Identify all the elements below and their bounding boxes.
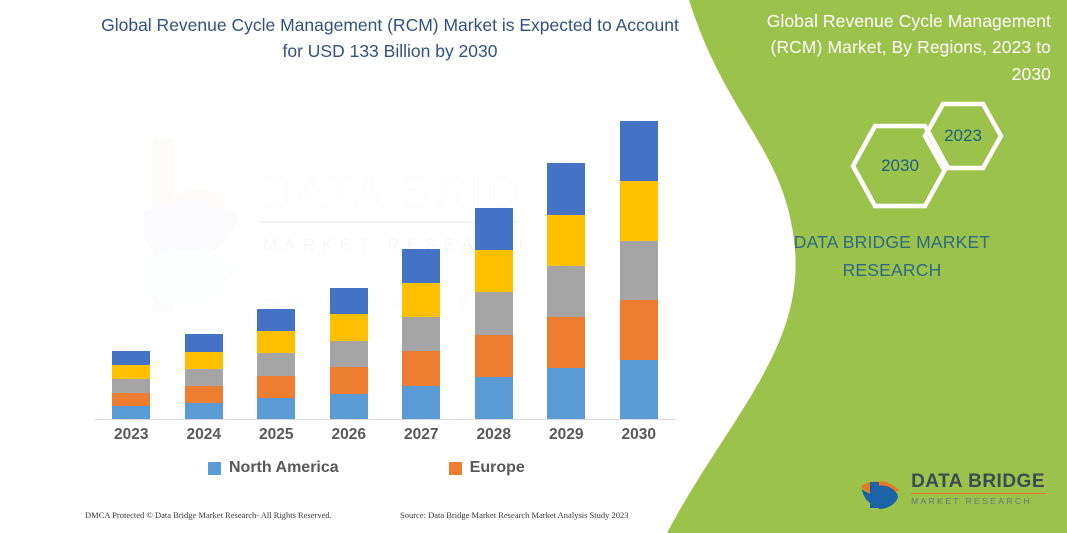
bar-segment-2024-series-4[interactable] [185, 352, 223, 369]
x-axis-label-2025: 2025 [257, 426, 295, 452]
bar-segment-2026-north-america[interactable] [330, 394, 368, 420]
bar-segment-2024-series-3[interactable] [185, 369, 223, 386]
x-axis-label-2027: 2027 [402, 426, 440, 452]
bar-segment-2025-europe[interactable] [257, 376, 295, 398]
legend-swatch-north-america [208, 462, 221, 475]
bar-2030[interactable] [620, 121, 658, 420]
bar-segment-2026-series-4[interactable] [330, 314, 368, 340]
panel-brand-text: DATA BRIDGE MARKET RESEARCH [767, 228, 1017, 284]
chart-legend: North America Europe [95, 456, 675, 480]
dbmr-logo[interactable]: DATA BRIDGE MARKET RESEARCH [860, 467, 1045, 511]
bar-segment-2025-series-5[interactable] [257, 309, 295, 331]
legend-item-north-america[interactable]: North America [208, 459, 339, 477]
x-axis-line [95, 419, 675, 420]
bar-segment-2029-series-5[interactable] [547, 163, 585, 214]
bar-segment-2030-north-america[interactable] [620, 360, 658, 420]
bar-segment-2027-series-5[interactable] [402, 249, 440, 283]
footer-copyright: DMCA Protected © Data Bridge Market Rese… [85, 510, 332, 520]
dbmr-logo-mark-icon [860, 467, 902, 511]
dbmr-logo-line1: DATA BRIDGE [911, 472, 1045, 494]
bar-segment-2029-series-4[interactable] [547, 215, 585, 266]
footer: DMCA Protected © Data Bridge Market Rese… [0, 508, 700, 528]
hexagon-badges: 2030 2023 [850, 100, 1030, 210]
bar-segment-2028-europe[interactable] [475, 335, 513, 378]
bar-segment-2025-series-3[interactable] [257, 353, 295, 375]
bar-segment-2028-north-america[interactable] [475, 377, 513, 420]
bar-segment-2025-north-america[interactable] [257, 398, 295, 420]
bar-2024[interactable] [185, 334, 223, 420]
legend-label-north-america: North America [229, 459, 339, 477]
panel-title: Global Revenue Cycle Management (RCM) Ma… [751, 8, 1051, 87]
bar-2026[interactable] [330, 288, 368, 420]
bar-segment-2023-series-5[interactable] [112, 351, 150, 365]
bar-segment-2025-series-4[interactable] [257, 331, 295, 353]
chart-title: Global Revenue Cycle Management (RCM) Ma… [90, 12, 690, 65]
x-axis-label-2023: 2023 [112, 426, 150, 452]
x-axis-label-2028: 2028 [475, 426, 513, 452]
bar-segment-2027-series-3[interactable] [402, 317, 440, 351]
bar-segment-2027-series-4[interactable] [402, 283, 440, 317]
chart-plot-area: DATA BRIDGE MARKET RESEARCH W W W . D A … [95, 120, 675, 420]
bar-segment-2024-europe[interactable] [185, 386, 223, 403]
bar-segment-2024-north-america[interactable] [185, 403, 223, 420]
bar-segment-2029-north-america[interactable] [547, 368, 585, 420]
bar-segment-2028-series-5[interactable] [475, 208, 513, 250]
hexagon-2023: 2023 [922, 100, 1004, 172]
x-axis-label-2029: 2029 [547, 426, 585, 452]
bar-segment-2027-europe[interactable] [402, 351, 440, 385]
bar-segment-2024-series-5[interactable] [185, 334, 223, 352]
x-axis-label-2026: 2026 [330, 426, 368, 452]
bar-segment-2028-series-3[interactable] [475, 292, 513, 335]
bar-segment-2030-series-5[interactable] [620, 121, 658, 181]
bar-segment-2023-north-america[interactable] [112, 406, 150, 420]
bar-2028[interactable] [475, 208, 513, 420]
bar-segment-2030-series-3[interactable] [620, 241, 658, 301]
legend-swatch-europe [449, 462, 462, 475]
bar-segment-2030-series-4[interactable] [620, 181, 658, 241]
green-panel-content: Global Revenue Cycle Management (RCM) Ma… [667, 0, 1067, 533]
bar-segment-2029-europe[interactable] [547, 317, 585, 368]
legend-label-europe: Europe [470, 459, 525, 477]
bar-segment-2029-series-3[interactable] [547, 266, 585, 317]
x-axis-label-2024: 2024 [185, 426, 223, 452]
legend-item-europe[interactable]: Europe [449, 459, 525, 477]
bar-2029[interactable] [547, 163, 585, 420]
bar-segment-2030-europe[interactable] [620, 300, 658, 360]
dbmr-logo-line2: MARKET RESEARCH [911, 497, 1045, 506]
bar-segment-2026-series-5[interactable] [330, 288, 368, 314]
footer-source: Source: Data Bridge Market Research Mark… [400, 510, 629, 520]
hexagon-2023-label: 2023 [922, 100, 1004, 172]
x-axis-labels: 20232024202520262027202820292030 [95, 426, 675, 452]
bar-segment-2023-europe[interactable] [112, 393, 150, 407]
bar-2025[interactable] [257, 309, 295, 420]
bar-segment-2023-series-4[interactable] [112, 365, 150, 379]
bar-2023[interactable] [112, 351, 150, 420]
stacked-bar-group [95, 122, 675, 420]
bar-segment-2028-series-4[interactable] [475, 250, 513, 293]
bar-2027[interactable] [402, 249, 440, 420]
bar-segment-2026-series-3[interactable] [330, 341, 368, 367]
bar-segment-2026-europe[interactable] [330, 367, 368, 393]
bar-segment-2027-north-america[interactable] [402, 386, 440, 420]
bar-segment-2023-series-3[interactable] [112, 379, 150, 393]
infographic-root: Global Revenue Cycle Management (RCM) Ma… [0, 0, 1067, 533]
x-axis-label-2030: 2030 [620, 426, 658, 452]
